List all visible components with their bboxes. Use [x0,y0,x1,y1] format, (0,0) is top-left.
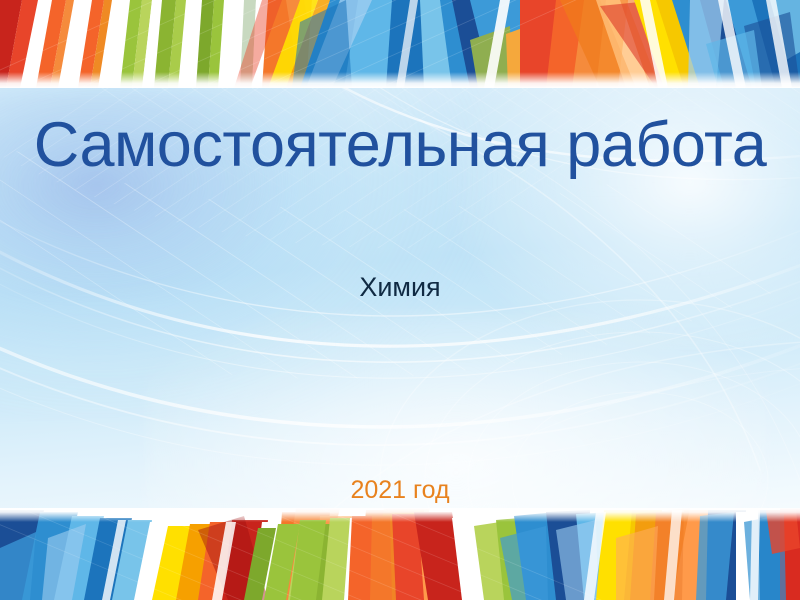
slide-subtitle: Химия [0,272,800,303]
slide-title: Самостоятельная работа [0,112,800,178]
presentation-slide: Самостоятельная работа Химия 2021 год [0,0,800,600]
slide-year: 2021 год [0,476,800,505]
decorative-band-top [0,0,800,88]
decorative-band-bottom [0,508,800,600]
